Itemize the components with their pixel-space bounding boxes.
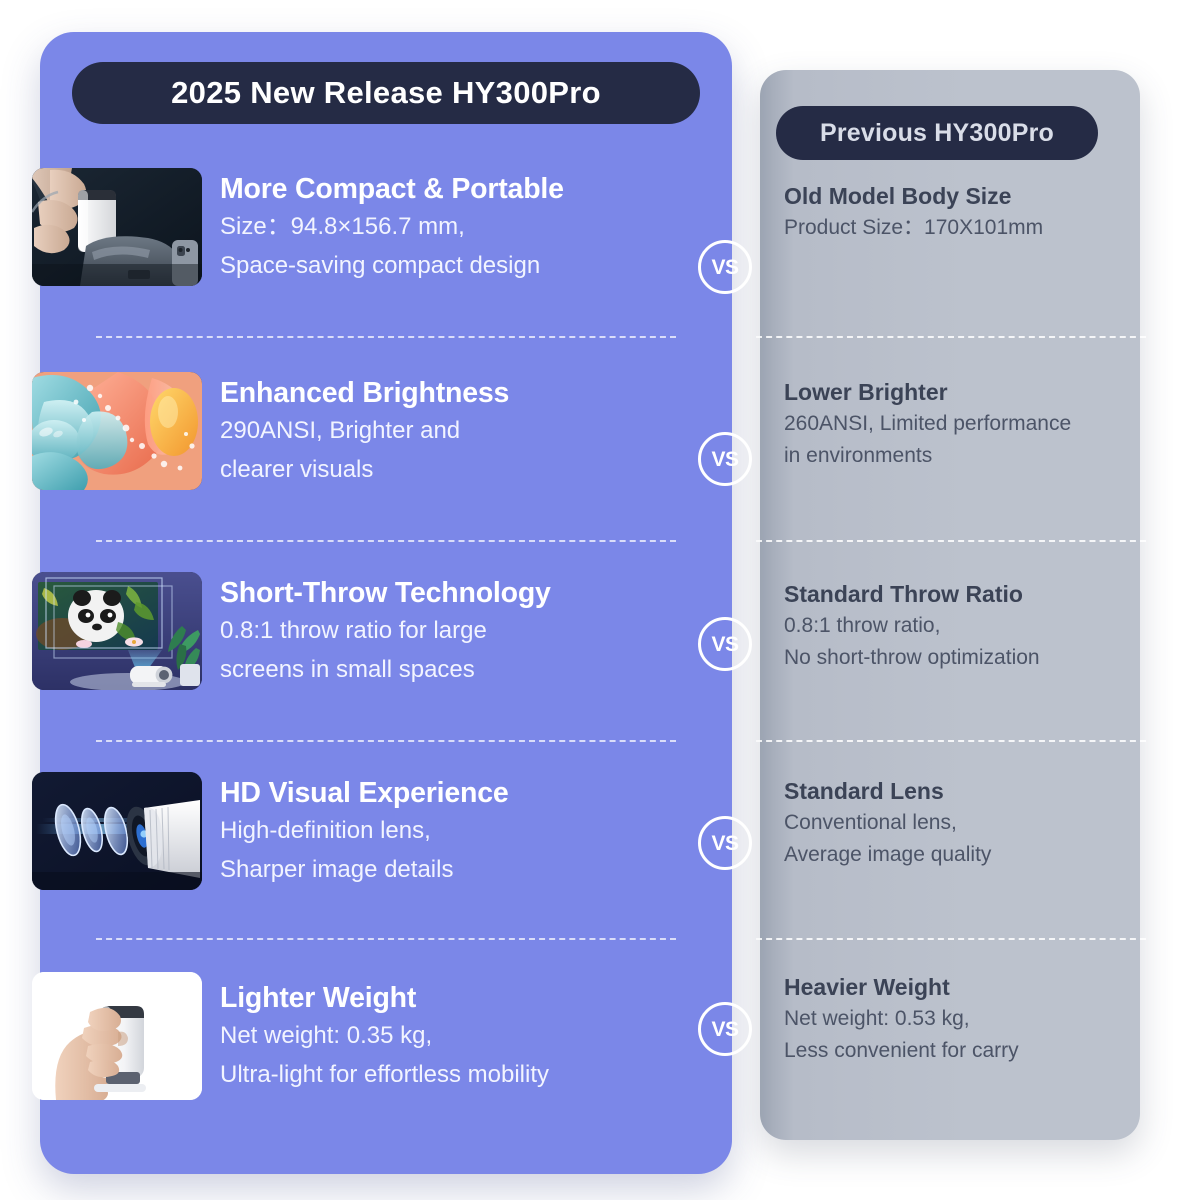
new-row-5: Lighter Weight Net weight: 0.35 kg, Ultr…	[32, 972, 692, 1100]
new-model-badge-label: 2025 New Release HY300Pro	[171, 75, 601, 111]
new-row-1-desc-2: Space-saving compact design	[220, 249, 692, 284]
projector-in-backpack-photo	[32, 168, 202, 286]
vs-badge-5: VS	[698, 1002, 752, 1056]
old-row-5-desc-1: Net weight: 0.53 kg,	[784, 1004, 1156, 1034]
previous-model-badge-label: Previous HY300Pro	[820, 119, 1054, 148]
old-row-4-desc-2: Average image quality	[784, 840, 1156, 870]
new-divider-4	[96, 938, 676, 940]
new-row-2-desc-1: 290ANSI, Brighter and	[220, 414, 692, 449]
vs-badge-5-label: VS	[711, 1019, 738, 1040]
old-divider-2	[756, 540, 1146, 542]
previous-model-badge: Previous HY300Pro	[776, 106, 1098, 160]
new-row-1-title: More Compact & Portable	[220, 172, 692, 206]
new-row-5-desc-1: Net weight: 0.35 kg,	[220, 1019, 692, 1054]
new-row-4-desc-2: Sharper image details	[220, 853, 692, 888]
old-row-3-title: Standard Throw Ratio	[784, 580, 1156, 609]
new-row-4-desc-1: High-definition lens,	[220, 814, 692, 849]
new-row-3: Short-Throw Technology 0.8:1 throw ratio…	[32, 572, 692, 690]
new-row-2-title: Enhanced Brightness	[220, 376, 692, 410]
old-row-5-desc-2: Less convenient for carry	[784, 1036, 1156, 1066]
vs-badge-2-label: VS	[711, 449, 738, 470]
old-row-4: Standard Lens Conventional lens, Average…	[784, 777, 1156, 869]
vs-badge-2: VS	[698, 432, 752, 486]
new-row-1-text: More Compact & Portable Size：94.8×156.7 …	[220, 170, 692, 284]
new-row-4: HD Visual Experience High-definition len…	[32, 772, 692, 890]
new-row-3-title: Short-Throw Technology	[220, 576, 692, 610]
vs-badge-1-label: VS	[711, 257, 738, 278]
old-row-5: Heavier Weight Net weight: 0.53 kg, Less…	[784, 973, 1156, 1065]
new-row-3-desc-1: 0.8:1 throw ratio for large	[220, 614, 692, 649]
exploded-lens-photo	[32, 772, 202, 890]
projector-beam-panda-photo	[32, 572, 202, 690]
vs-badge-3: VS	[698, 617, 752, 671]
new-row-2-text: Enhanced Brightness 290ANSI, Brighter an…	[220, 374, 692, 488]
new-row-3-text: Short-Throw Technology 0.8:1 throw ratio…	[220, 574, 692, 688]
hand-holding-projector-photo	[32, 972, 202, 1100]
old-row-2-desc-1: 260ANSI, Limited performance	[784, 409, 1156, 439]
vs-badge-1: VS	[698, 240, 752, 294]
glossy-flowers-photo	[32, 372, 202, 490]
new-row-1: More Compact & Portable Size：94.8×156.7 …	[32, 168, 692, 286]
vs-badge-4-label: VS	[711, 833, 738, 854]
new-row-3-desc-2: screens in small spaces	[220, 653, 692, 688]
new-row-4-title: HD Visual Experience	[220, 776, 692, 810]
old-row-3: Standard Throw Ratio 0.8:1 throw ratio, …	[784, 580, 1156, 672]
vs-badge-4: VS	[698, 816, 752, 870]
new-row-2-desc-2: clearer visuals	[220, 453, 692, 488]
vs-badge-3-label: VS	[711, 634, 738, 655]
new-divider-2	[96, 540, 676, 542]
comparison-infographic: Previous HY300Pro Old Model Body Size Pr…	[0, 0, 1200, 1200]
new-row-1-desc-1: Size：94.8×156.7 mm,	[220, 210, 692, 245]
old-row-1-desc-1: Product Size：170X101mm	[784, 213, 1156, 243]
new-row-5-text: Lighter Weight Net weight: 0.35 kg, Ultr…	[220, 979, 692, 1093]
old-row-2-title: Lower Brighter	[784, 378, 1156, 407]
new-divider-1	[96, 336, 676, 338]
new-model-badge: 2025 New Release HY300Pro	[72, 62, 700, 124]
old-divider-1	[756, 336, 1146, 338]
new-row-2: Enhanced Brightness 290ANSI, Brighter an…	[32, 372, 692, 490]
old-divider-4	[756, 938, 1146, 940]
old-divider-3	[756, 740, 1146, 742]
old-row-1: Old Model Body Size Product Size：170X101…	[784, 182, 1156, 243]
old-row-3-desc-2: No short-throw optimization	[784, 643, 1156, 673]
new-row-4-text: HD Visual Experience High-definition len…	[220, 774, 692, 888]
old-row-5-title: Heavier Weight	[784, 973, 1156, 1002]
old-row-2: Lower Brighter 260ANSI, Limited performa…	[784, 378, 1156, 470]
new-row-5-title: Lighter Weight	[220, 981, 692, 1015]
old-row-3-desc-1: 0.8:1 throw ratio,	[784, 611, 1156, 641]
old-row-4-title: Standard Lens	[784, 777, 1156, 806]
new-row-5-desc-2: Ultra-light for effortless mobility	[220, 1058, 692, 1093]
old-row-4-desc-1: Conventional lens,	[784, 808, 1156, 838]
old-row-1-title: Old Model Body Size	[784, 182, 1156, 211]
old-row-2-desc-2: in environments	[784, 441, 1156, 471]
new-divider-3	[96, 740, 676, 742]
